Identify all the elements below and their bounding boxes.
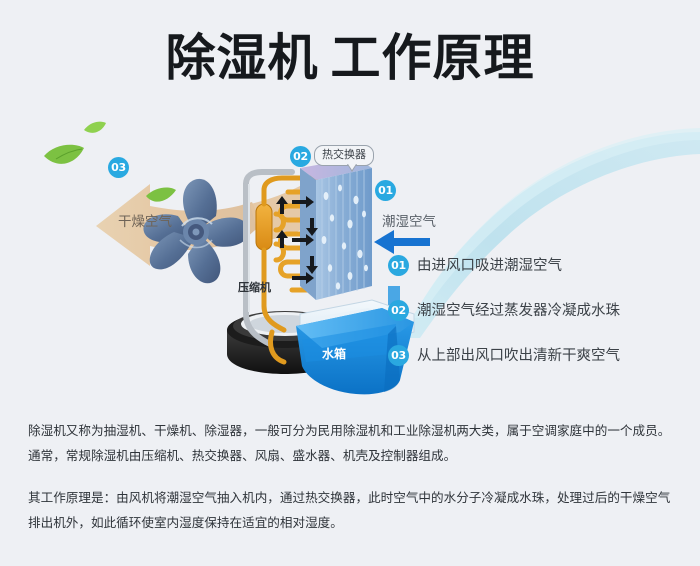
legend-list: 01 由进风口吸进潮湿空气 02 潮湿空气经过蒸发器冷凝成水珠 03 从上部出风… bbox=[388, 255, 688, 390]
diagram-badge-02: 02 bbox=[290, 146, 311, 167]
callout-tail-icon bbox=[347, 164, 357, 172]
heat-exchanger-callout: 热交换器 bbox=[314, 145, 374, 166]
legend-badge-02: 02 bbox=[388, 300, 409, 321]
diagram-badge-03: 03 bbox=[108, 157, 129, 178]
legend-badge-03: 03 bbox=[388, 345, 409, 366]
title-part-one: 除湿机 bbox=[166, 29, 319, 87]
label-humid-air: 潮湿空气 bbox=[382, 214, 436, 230]
legend-text-03: 从上部出风口吹出清新干爽空气 bbox=[417, 346, 620, 366]
legend-badge-01: 01 bbox=[388, 255, 409, 276]
label-compressor: 压缩机 bbox=[238, 280, 271, 296]
label-water-tank: 水箱 bbox=[322, 346, 346, 362]
body-paragraph-2: 其工作原理是：由风机将潮湿空气抽入机内，通过热交换器，此时空气中的水分子冷凝成水… bbox=[28, 485, 676, 535]
legend-text-02: 潮湿空气经过蒸发器冷凝成水珠 bbox=[417, 301, 620, 321]
dehumidifier-infographic: 除湿机工作原理 bbox=[0, 0, 700, 566]
body-paragraph-1: 除湿机又称为抽湿机、干燥机、除湿器，一般可分为民用除湿机和工业除湿机两大类，属于… bbox=[28, 418, 676, 468]
body-copy: 除湿机又称为抽湿机、干燥机、除湿器，一般可分为民用除湿机和工业除湿机两大类，属于… bbox=[28, 418, 676, 535]
diagram-badge-01: 01 bbox=[375, 180, 396, 201]
legend-item: 02 潮湿空气经过蒸发器冷凝成水珠 bbox=[388, 300, 688, 321]
label-dry-air: 干燥空气 bbox=[118, 214, 172, 230]
legend-item: 01 由进风口吸进潮湿空气 bbox=[388, 255, 688, 276]
intake-arrow-shape bbox=[374, 230, 430, 254]
title-part-two: 工作原理 bbox=[331, 29, 535, 87]
page-title: 除湿机工作原理 bbox=[0, 28, 700, 88]
legend-item: 03 从上部出风口吹出清新干爽空气 bbox=[388, 345, 688, 366]
legend-text-01: 由进风口吸进潮湿空气 bbox=[417, 256, 562, 276]
